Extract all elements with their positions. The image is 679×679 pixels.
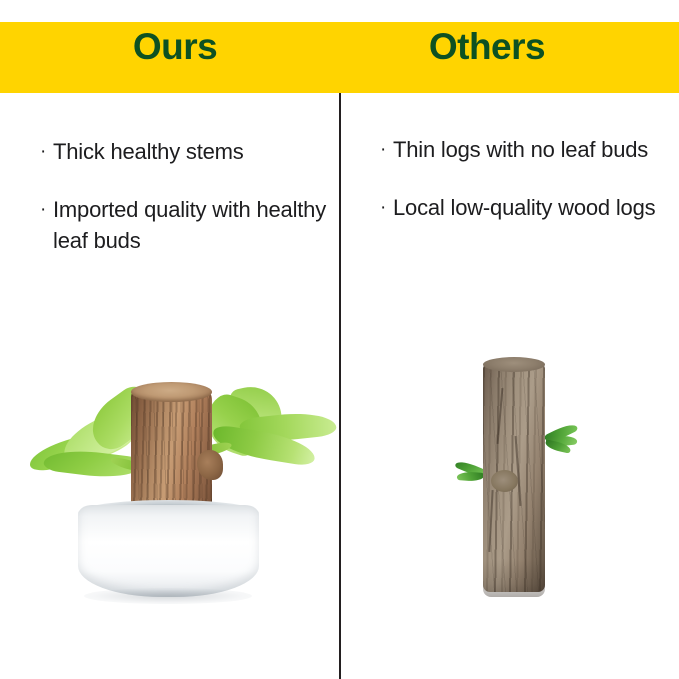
others-product-photo	[339, 340, 679, 679]
log-knot	[197, 450, 223, 480]
bullet-dot-icon: ·	[40, 194, 53, 225]
sprout-icon	[457, 471, 485, 482]
list-item: · Thin logs with no leaf buds	[380, 134, 662, 165]
list-item-label: Imported quality with healthy leaf buds	[53, 194, 328, 256]
ours-product-photo	[0, 340, 339, 679]
log-base-shadow	[483, 559, 545, 597]
bowl-drop-shadow	[84, 588, 252, 604]
list-item-label: Local low-quality wood logs	[393, 192, 662, 223]
bullet-dot-icon: ·	[380, 134, 393, 165]
log-knot	[491, 470, 518, 492]
header-title-others: Others	[372, 25, 602, 69]
log-top-face	[131, 382, 212, 402]
list-item: · Imported quality with healthy leaf bud…	[40, 194, 328, 256]
white-ceramic-bowl	[78, 505, 259, 597]
list-item-label: Thick healthy stems	[53, 136, 328, 167]
others-feature-list: · Thin logs with no leaf buds · Local lo…	[380, 134, 662, 250]
ours-feature-list: · Thick healthy stems · Imported quality…	[40, 136, 328, 283]
bullet-dot-icon: ·	[40, 136, 53, 167]
list-item: · Local low-quality wood logs	[380, 192, 662, 223]
list-item: · Thick healthy stems	[40, 136, 328, 167]
list-item-label: Thin logs with no leaf buds	[393, 134, 662, 165]
bullet-dot-icon: ·	[380, 192, 393, 223]
comparison-infographic: Ours Others · Thick healthy stems · Impo…	[0, 0, 679, 679]
log-top-face	[483, 357, 545, 372]
header-title-ours: Ours	[40, 25, 310, 69]
